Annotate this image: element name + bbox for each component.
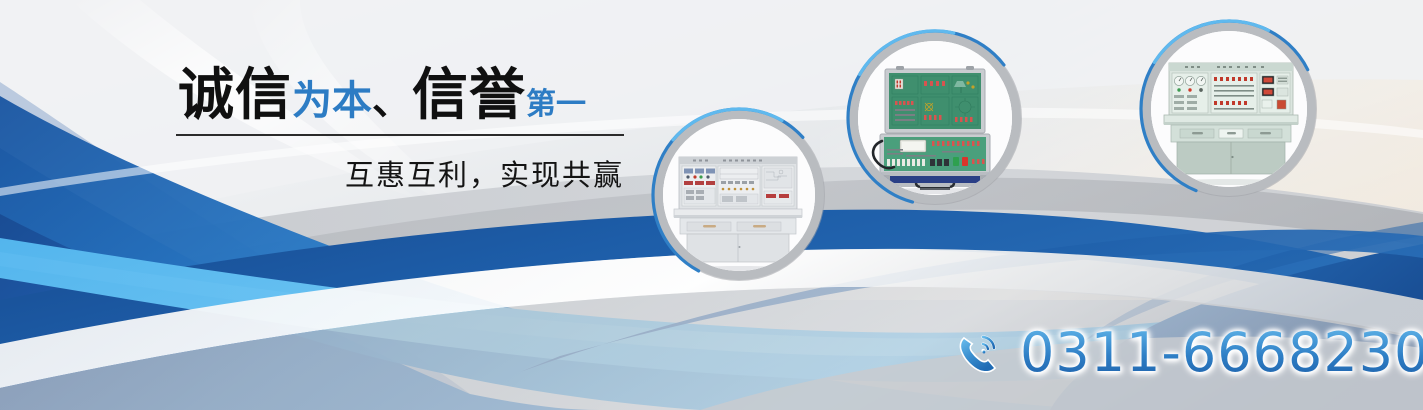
product-circle-2[interactable] bbox=[849, 32, 1021, 204]
contact-phone[interactable]: 0311-66682303 bbox=[952, 326, 1423, 380]
circle-accent-arc-2 bbox=[843, 26, 1027, 210]
promo-banner: 诚信为本、信誉第一 互惠互利，实现共赢 bbox=[0, 0, 1423, 410]
product-circle-3[interactable] bbox=[1142, 22, 1316, 196]
headline-part-4: 信誉 bbox=[412, 63, 526, 128]
subtitle: 互惠互利，实现共赢 bbox=[176, 152, 624, 194]
headline-block: 诚信为本、信誉第一 互惠互利，实现共赢 bbox=[176, 68, 628, 194]
headline-part-1: 诚信 bbox=[178, 63, 292, 128]
headline-part-5: 第一 bbox=[526, 87, 586, 122]
phone-number-text: 0311-66682303 bbox=[1020, 326, 1423, 380]
phone-icon bbox=[952, 326, 1006, 380]
circle-accent-arc-1 bbox=[648, 104, 830, 286]
page-title: 诚信为本、信誉第一 bbox=[176, 68, 628, 130]
circle-accent-arc-3 bbox=[1136, 16, 1322, 202]
product-circle-1[interactable] bbox=[654, 110, 824, 280]
headline-separator: 、 bbox=[372, 78, 412, 124]
headline-part-2: 为本 bbox=[292, 78, 372, 124]
headline-divider bbox=[176, 134, 624, 136]
